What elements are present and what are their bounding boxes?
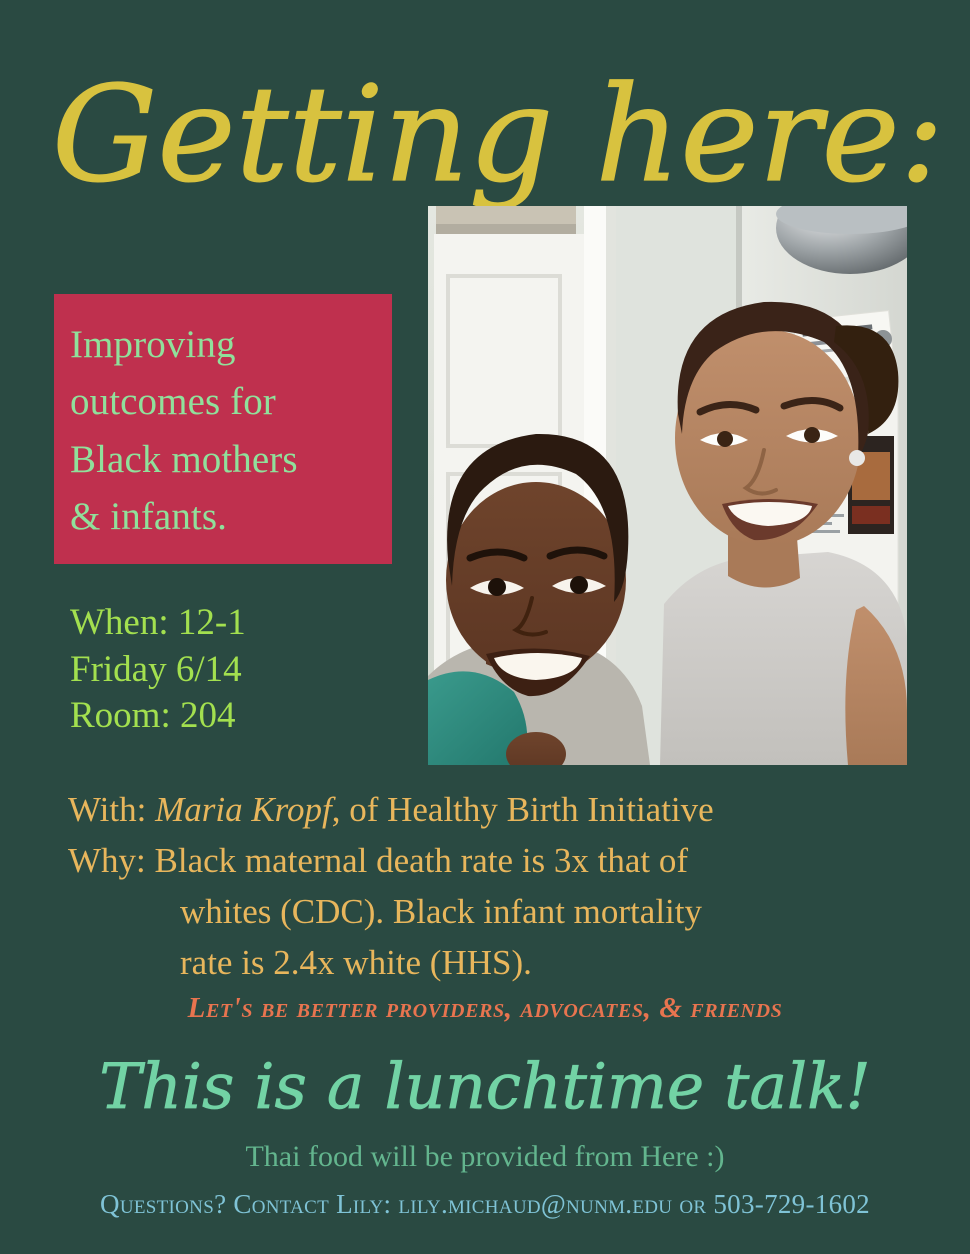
with-label: With: (68, 790, 155, 829)
headline-box: Improving outcomes for Black mothers & i… (54, 294, 392, 564)
event-room: Room: 204 (70, 693, 246, 740)
headline-line: Improving (70, 316, 374, 373)
headline-text: Improving outcomes for Black mothers & i… (70, 316, 374, 545)
poster-title: Getting here: (52, 52, 672, 227)
speaker-line: With: Maria Kropf, of Healthy Birth Init… (68, 784, 928, 835)
speaker-affiliation: , of Healthy Birth Initiative (332, 790, 714, 829)
tagline: Let's be better providers, advocates, & … (0, 992, 970, 1025)
lunchtime-note-text: This is a lunchtime talk! (99, 1050, 870, 1123)
headline-line: & infants. (70, 488, 374, 545)
why-line-2: whites (CDC). Black infant mortality (68, 886, 928, 937)
contact-line: Questions? Contact Lily: lily.michaud@nu… (0, 1189, 970, 1220)
event-details-block: With: Maria Kropf, of Healthy Birth Init… (68, 784, 928, 988)
why-line-3: rate is 2.4x white (HHS). (68, 937, 928, 988)
why-line-1: Why: Black maternal death rate is 3x tha… (68, 835, 928, 886)
food-note: Thai food will be provided from Here :) (0, 1140, 970, 1174)
lunchtime-note: This is a lunchtime talk! (0, 1046, 970, 1128)
headline-line: Black mothers (70, 431, 374, 488)
event-photo (428, 206, 907, 765)
speaker-name: Maria Kropf (155, 790, 332, 829)
headline-line: outcomes for (70, 373, 374, 430)
event-date: Friday 6/14 (70, 647, 246, 694)
event-time: When: 12-1 (70, 600, 246, 647)
poster-title-text: Getting here: (52, 58, 944, 212)
poster-canvas: Getting here: (0, 0, 970, 1254)
event-when-block: When: 12-1 Friday 6/14 Room: 204 (70, 600, 246, 740)
